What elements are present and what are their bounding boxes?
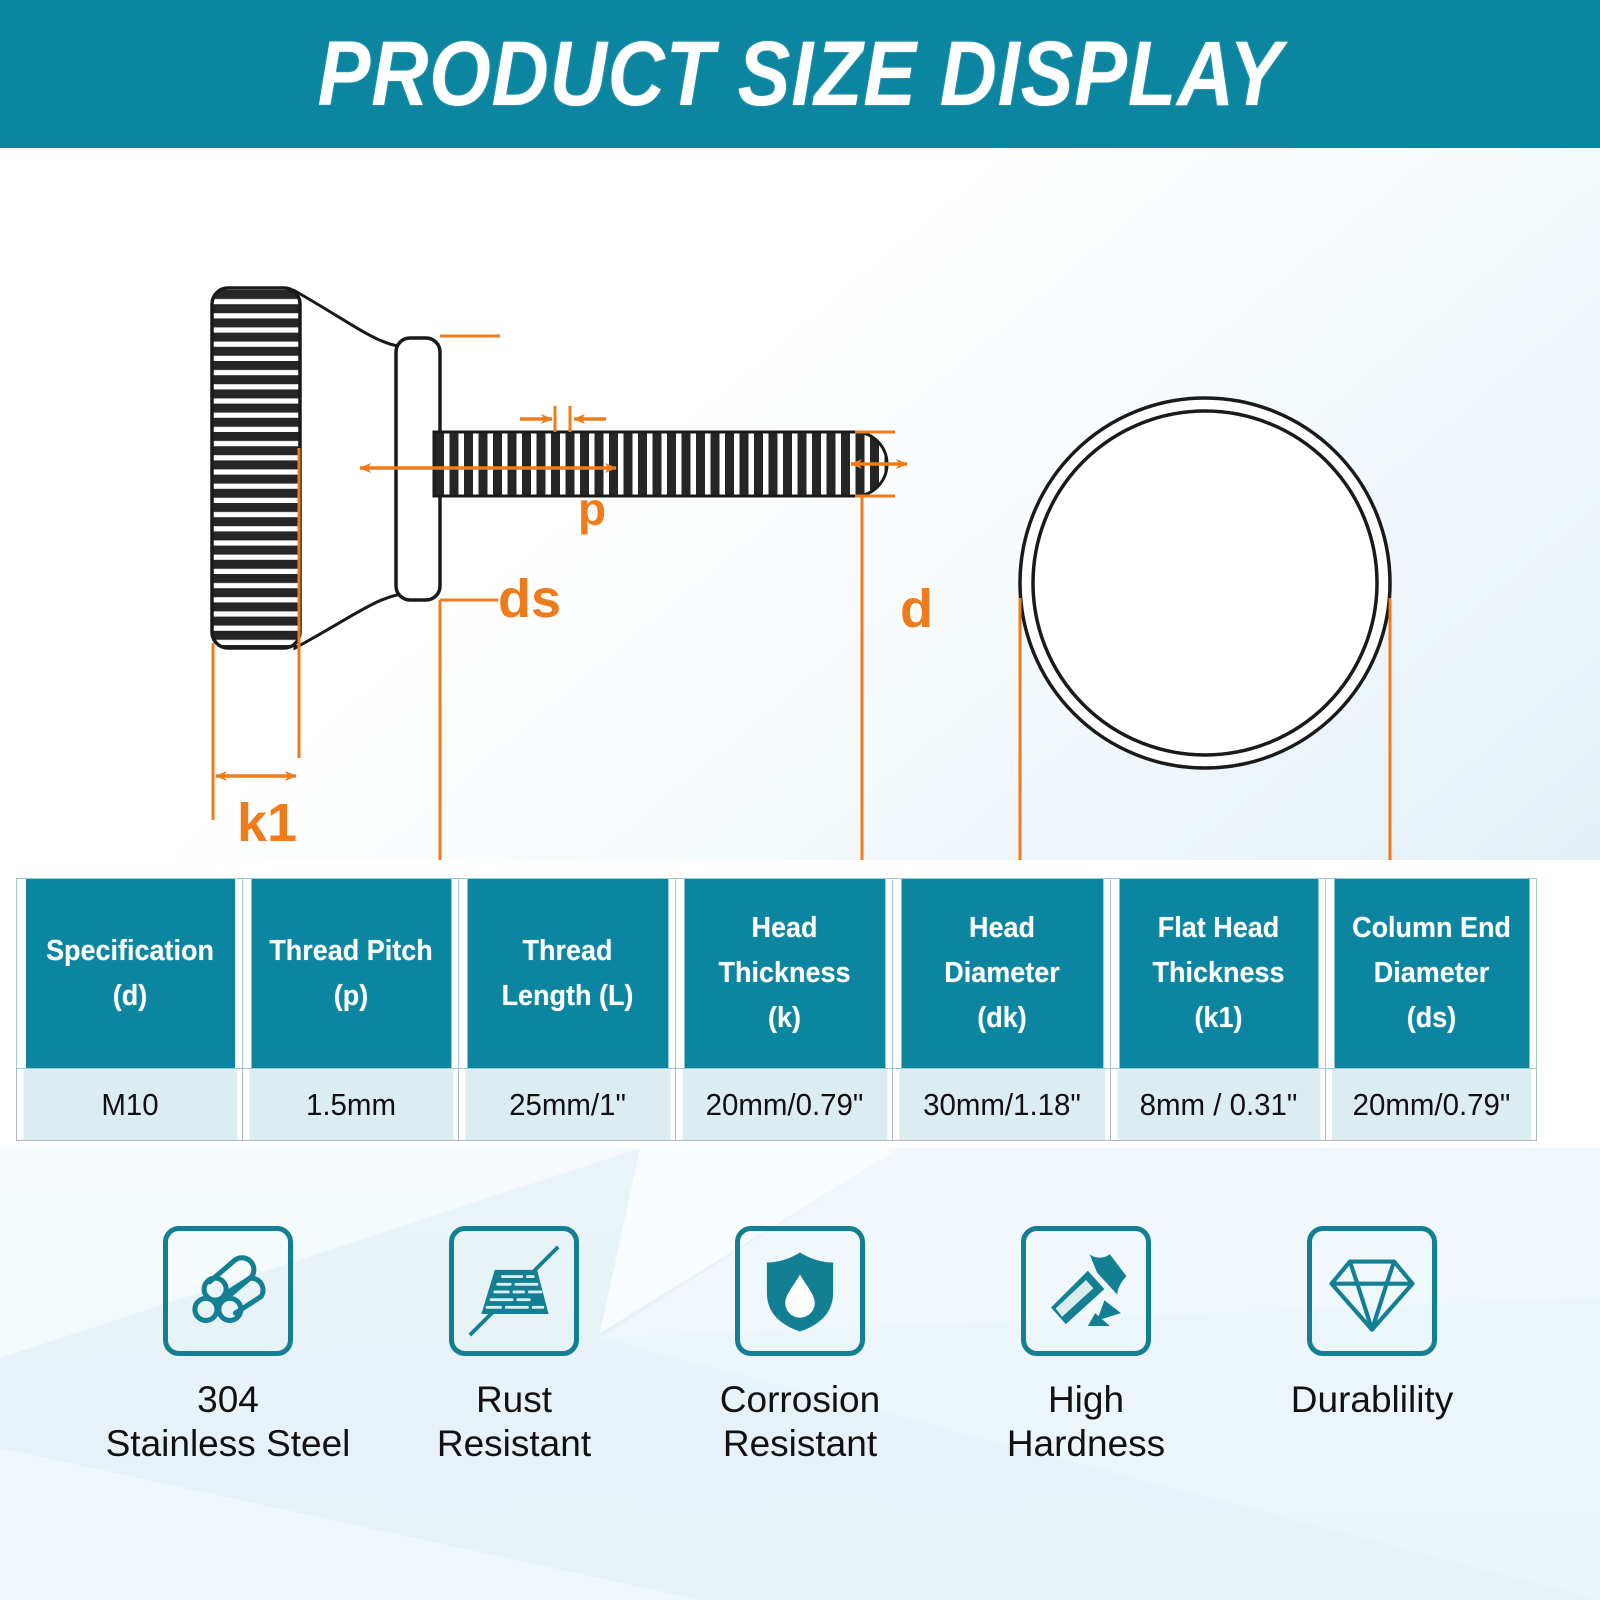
th-thread-length-l2: Length (L) [470,974,663,1019]
feature-label-rust-l1: Rust [437,1378,591,1422]
dim-label-k1: k1 [237,796,297,850]
feature-label-rust-l2: Resistant [437,1422,591,1466]
product-size-display-page: PRODUCT SIZE DISPLAY [0,0,1600,1600]
feature-label-durability-l1: Durablility [1291,1378,1453,1422]
feature-label-corrosion-l1: Corrosion [720,1378,880,1422]
th-head-diameter: Head Diameter (dk) [900,879,1103,1069]
th-head-diameter-l3: (dk) [904,996,1098,1041]
threaded-shaft [434,432,887,496]
th-thread-length: Thread Length (L) [466,879,668,1069]
dim-label-ds: ds [498,572,561,626]
shield-droplet-icon [754,1245,846,1337]
cell-thread-length: 25mm/1" [464,1069,670,1141]
th-thread-pitch-l2: (p) [254,974,447,1019]
feature-label-corrosion: Corrosion Resistant [720,1378,880,1465]
th-thread-length-l1: Thread [470,929,663,974]
feature-304-stainless-steel: 304 Stainless Steel [85,1226,371,1465]
specification-table-container: Specification (d) Thread Pitch (p) Threa… [16,878,1536,1140]
feature-label-corrosion-l2: Resistant [720,1422,880,1466]
dim-label-d: d [900,582,933,636]
rust-sheet-icon [466,1243,562,1339]
screw-top-view [1020,398,1390,768]
head-inner-circle [1033,411,1377,755]
feature-icon-box-durability [1307,1226,1437,1356]
page-title: PRODUCT SIZE DISPLAY [317,22,1282,127]
feature-label-hardness-l2: Hardness [1007,1422,1165,1466]
th-head-thickness-l3: (k) [687,996,880,1041]
steel-pipes-icon [182,1245,274,1337]
cell-head-diameter: 30mm/1.18" [898,1069,1105,1141]
th-head-diameter-l1: Head [904,906,1098,951]
feature-label-durability: Durablility [1291,1378,1453,1422]
feature-label-steel-l2: Stainless Steel [106,1422,351,1466]
feature-icon-box-steel [163,1226,293,1356]
feature-rust-resistant: Rust Resistant [371,1226,657,1465]
feature-icon-box-rust [449,1226,579,1356]
feature-list: 304 Stainless Steel [0,1148,1600,1600]
th-head-thickness-l2: Thickness [687,951,880,996]
th-column-end-diameter-l3: (ds) [1337,996,1525,1041]
dim-label-p: p [578,486,606,532]
table-header-row: Specification (d) Thread Pitch (p) Threa… [17,879,1537,1069]
diamond-icon [1326,1245,1418,1337]
specification-table: Specification (d) Thread Pitch (p) Threa… [16,878,1537,1141]
feature-corrosion-resistant: Corrosion Resistant [657,1226,943,1465]
cell-head-thickness: 20mm/0.79" [681,1069,887,1141]
th-flat-head-thickness-l1: Flat Head [1122,906,1314,951]
th-column-end-diameter: Column End Diameter (ds) [1333,879,1529,1069]
cell-flat-head-thickness: 8mm / 0.31" [1116,1069,1320,1141]
th-column-end-diameter-l1: Column End [1337,906,1525,951]
th-head-thickness: Head Thickness (k) [683,879,885,1069]
knurled-head [212,288,300,648]
th-flat-head-thickness: Flat Head Thickness (k1) [1118,879,1318,1069]
feature-label-rust: Rust Resistant [437,1378,591,1465]
th-column-end-diameter-l2: Diameter [1337,951,1525,996]
table-row: M10 1.5mm 25mm/1" 20mm/0.79" 30mm/1.18" … [17,1069,1537,1141]
th-flat-head-thickness-l3: (k1) [1122,996,1314,1041]
hammer-chisel-icon [1040,1245,1132,1337]
cell-column-end-diameter: 20mm/0.79" [1331,1069,1531,1141]
th-head-thickness-l1: Head [687,906,880,951]
th-flat-head-thickness-l2: Thickness [1122,951,1314,996]
th-head-diameter-l2: Diameter [904,951,1098,996]
cell-thread-pitch: 1.5mm [248,1069,453,1141]
th-specification: Specification (d) [24,879,234,1069]
th-thread-pitch: Thread Pitch (p) [250,879,451,1069]
feature-icon-box-corrosion [735,1226,865,1356]
feature-label-hardness: High Hardness [1007,1378,1165,1465]
feature-durability: Durablility [1229,1226,1515,1422]
feature-label-steel: 304 Stainless Steel [106,1378,351,1465]
th-specification-l1: Specification [29,929,231,974]
th-specification-l2: (d) [29,974,231,1019]
feature-label-hardness-l1: High [1007,1378,1165,1422]
cell-specification: M10 [22,1069,237,1141]
dimension-diagram-svg [0,148,1600,860]
dimension-diagram: p ds d k1 k L dk [0,148,1600,860]
features-section: 304 Stainless Steel [0,1148,1600,1600]
th-thread-pitch-l1: Thread Pitch [254,929,447,974]
page-header-banner: PRODUCT SIZE DISPLAY [0,0,1600,148]
feature-label-steel-l1: 304 [106,1378,351,1422]
feature-high-hardness: High Hardness [943,1226,1229,1465]
feature-icon-box-hardness [1021,1226,1151,1356]
